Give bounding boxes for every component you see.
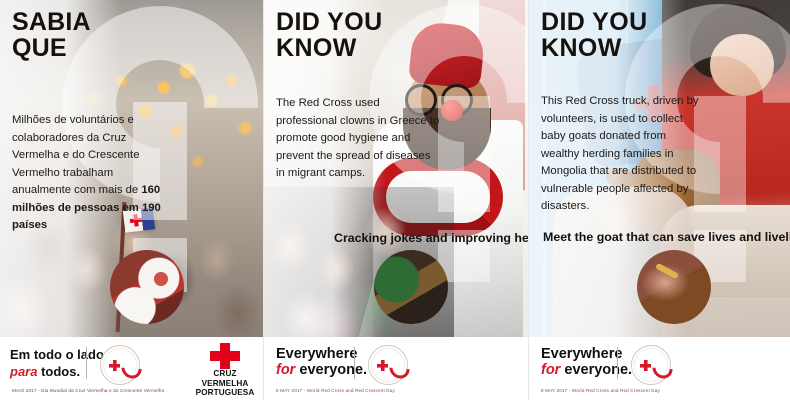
slogan-line-1: Em todo o lado xyxy=(10,347,104,362)
panel-mongolia-goats[interactable]: DID YOU KNOW This Red Cross truck, drive… xyxy=(529,0,790,400)
slogan-italic-word: para xyxy=(10,364,37,379)
cvp-line-3: PORTUGUESA xyxy=(192,388,258,398)
page-title: DID YOU KNOW xyxy=(276,10,383,61)
slogan-italic-word: for xyxy=(276,362,295,378)
red-cross-icon xyxy=(109,360,120,371)
panel1-footer: Em todo o lado para todos. MAIO 2017 - D… xyxy=(0,337,264,400)
circular-photo-inset xyxy=(110,250,184,324)
clown-red-nose xyxy=(441,100,463,121)
volunteer-face xyxy=(710,34,774,96)
red-cross-icon xyxy=(640,360,651,371)
slogan-rest: todos. xyxy=(41,364,80,379)
cvp-line-2: VERMELHA xyxy=(192,379,258,389)
circular-photo-inset xyxy=(374,250,448,324)
red-cross-icon xyxy=(377,360,388,371)
panel2-body-text: The Red Cross used professional clowns i… xyxy=(276,95,442,183)
panel1-body-text: Milhões de voluntários e colaboradores d… xyxy=(12,112,172,235)
circular-photo-inset xyxy=(637,250,711,324)
cruz-vermelha-portuguesa-logo: CRUZ VERMELHA PORTUGUESA xyxy=(192,343,258,395)
headline-line-1: DID YOU xyxy=(541,10,648,36)
headline-line-2: QUE xyxy=(12,36,91,62)
panel3-body-text: This Red Cross truck, driven by voluntee… xyxy=(541,93,699,216)
red-cross-red-crescent-emblem-icon xyxy=(368,345,408,385)
footer-divider xyxy=(354,347,355,379)
panel-separator-2 xyxy=(528,0,529,400)
legal-line: 8 MAY 2017 - World Red Cross and Red Cre… xyxy=(541,388,660,393)
slogan-everywhere-for-everyone: Everywhere for everyone. xyxy=(541,346,632,378)
headline-line-2: KNOW xyxy=(541,36,648,62)
panel3-footer: Everywhere for everyone. 8 MAY 2017 - Wo… xyxy=(529,337,790,400)
panel3-tagline: Meet the goat that can save lives and li… xyxy=(543,230,790,244)
legal-line: MAIO 2017 - Dia Mundial da Cruz Vermelha… xyxy=(12,388,164,393)
slogan-rest: everyone. xyxy=(564,362,632,378)
panel2-footer: Everywhere for everyone. 8 MAY 2017 - Wo… xyxy=(264,337,529,400)
red-cross-red-crescent-emblem-icon xyxy=(631,345,671,385)
slogan-line-1: Everywhere xyxy=(276,346,357,362)
slogan-pt: Em todo o lado para todos. xyxy=(10,347,104,381)
page-title: DID YOU KNOW xyxy=(541,10,648,61)
legal-line: 8 MAY 2017 - World Red Cross and Red Cre… xyxy=(276,388,395,393)
slogan-rest: everyone. xyxy=(299,362,367,378)
headline-line-1: SABIA xyxy=(12,10,91,36)
panel-sabia-que[interactable]: SABIA QUE Milhões de voluntários e colab… xyxy=(0,0,264,400)
red-cross-red-crescent-emblem-icon xyxy=(100,345,140,385)
slogan-line-1: Everywhere xyxy=(541,346,622,362)
page-title: SABIA QUE xyxy=(12,10,91,61)
footer-divider xyxy=(86,347,87,379)
headline-line-2: KNOW xyxy=(276,36,383,62)
cvp-red-cross-icon xyxy=(210,343,240,369)
panel-separator-1 xyxy=(263,0,264,400)
headline-line-1: DID YOU xyxy=(276,10,383,36)
slogan-italic-word: for xyxy=(541,362,560,378)
panel-clowns-greece[interactable]: DID YOU KNOW The Red Cross used professi… xyxy=(264,0,529,400)
campaign-banner-board: SABIA QUE Milhões de voluntários e colab… xyxy=(0,0,790,400)
cvp-line-1: CRUZ xyxy=(192,369,258,379)
body-plain: Milhões de voluntários e colaboradores d… xyxy=(12,114,141,196)
panel2-tagline: Cracking jokes and improving health xyxy=(334,231,529,245)
footer-divider xyxy=(617,347,618,379)
